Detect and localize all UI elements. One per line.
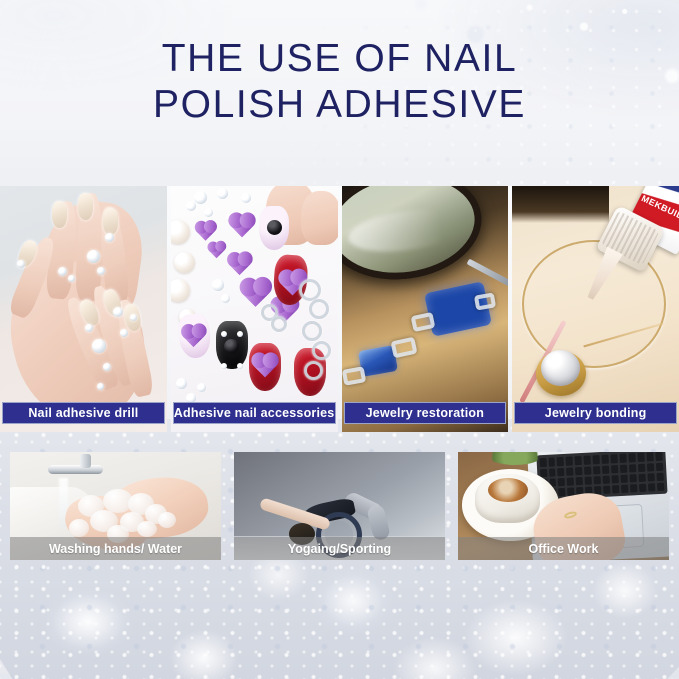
photo-nail-accessories	[171, 186, 338, 432]
caption-jewelry-restoration: Jewelry restoration	[344, 402, 507, 424]
caption-adhesive-nail-accessories: Adhesive nail accessories	[173, 402, 336, 424]
top-image-row: BEAUTY Nail adhesive drill	[0, 186, 679, 432]
panel-nail-adhesive-drill: BEAUTY Nail adhesive drill	[0, 186, 167, 432]
pearl-pendant	[536, 348, 586, 396]
panel-jewelry-restoration: Jewelry restoration	[342, 186, 509, 432]
caption-nail-adhesive-drill: Nail adhesive drill	[2, 402, 165, 424]
bottom-image-row: Washing hands/ Water Yogaing/Sporting	[10, 452, 669, 560]
photo-hands-rhinestone-nails: BEAUTY	[0, 186, 167, 432]
panel-jewelry-bonding: MEKBUIL Jewelry bonding	[512, 186, 679, 432]
caption-office-work: Office Work	[458, 537, 669, 560]
caption-washing-hands: Washing hands/ Water	[10, 537, 221, 560]
panel-adhesive-nail-accessories: Adhesive nail accessories	[171, 186, 338, 432]
photo-jewelry-restoration	[342, 186, 509, 432]
product-infographic-poster: THE USE OF NAIL POLISH ADHESIVE	[0, 0, 679, 679]
glue-brand-label: MEKBUIL	[640, 194, 679, 222]
panel-washing-hands: Washing hands/ Water	[10, 452, 221, 560]
caption-yogaing-sporting: Yogaing/Sporting	[234, 537, 445, 560]
caption-jewelry-bonding: Jewelry bonding	[514, 402, 677, 424]
page-title: THE USE OF NAIL POLISH ADHESIVE	[0, 36, 679, 128]
panel-office-work: Office Work	[458, 452, 669, 560]
photo-jewelry-bonding: MEKBUIL	[512, 186, 679, 432]
panel-yogaing-sporting: Yogaing/Sporting	[234, 452, 445, 560]
